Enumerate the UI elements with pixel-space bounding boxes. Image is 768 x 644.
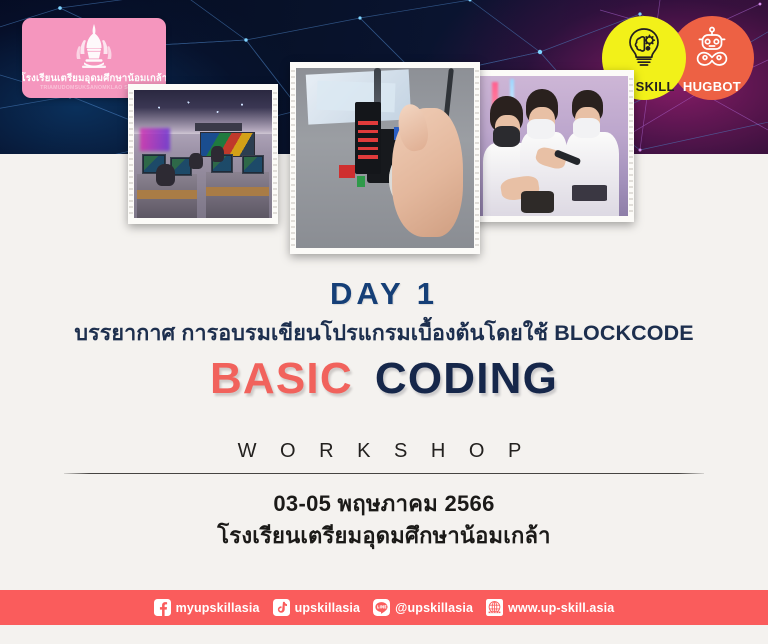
brand-label-hugbot: HUGBOT bbox=[683, 80, 741, 93]
event-date: 03-05 พฤษภาคม 2566 bbox=[0, 486, 768, 521]
thai-subtitle: บรรยากาศ การอบรมเขียนโปรแกรมเบื้องต้นโดย… bbox=[0, 316, 768, 350]
workshop-label: W O R K S H O P bbox=[0, 440, 768, 463]
school-name-thai: โรงเรียนเตรียมอุดมศึกษาน้อมเกล้า bbox=[22, 74, 166, 84]
social-link-website[interactable]: www.up-skill.asia bbox=[486, 599, 614, 616]
social-link-facebook[interactable]: myupskillasia bbox=[154, 599, 260, 616]
social-handle-line: @upskillasia bbox=[395, 601, 473, 615]
thai-royal-crown-emblem-icon bbox=[72, 23, 116, 75]
photo-frame-computer-lab bbox=[128, 84, 278, 224]
robot-head-icon bbox=[689, 26, 735, 70]
social-link-line[interactable]: @upskillasia bbox=[373, 599, 473, 616]
social-handle-tiktok: upskillasia bbox=[295, 601, 361, 615]
photo-computer-lab bbox=[134, 90, 272, 218]
line-icon bbox=[373, 599, 390, 616]
facebook-icon bbox=[154, 599, 171, 616]
poster-root: โรงเรียนเตรียมอุดมศึกษาน้อมเกล้า TRIAMUD… bbox=[0, 0, 768, 644]
social-handle-website: www.up-skill.asia bbox=[508, 601, 614, 615]
social-links-list: myupskillasia upskillasia bbox=[154, 599, 615, 616]
tiktok-icon bbox=[273, 599, 290, 616]
social-link-tiktok[interactable]: upskillasia bbox=[273, 599, 361, 616]
day-title: DAY 1 bbox=[0, 276, 768, 312]
main-title-basic: BASIC bbox=[210, 354, 353, 403]
photo-robot-car bbox=[296, 68, 474, 248]
footer-bar: myupskillasia upskillasia bbox=[0, 590, 768, 625]
globe-icon bbox=[486, 599, 503, 616]
divider-line bbox=[64, 473, 704, 474]
photo-frame-robot-car bbox=[290, 62, 480, 254]
photo-frame-students bbox=[474, 70, 634, 222]
main-title-coding: CODING bbox=[375, 354, 558, 403]
photo-students bbox=[480, 76, 628, 216]
event-place: โรงเรียนเตรียมอุดมศึกษาน้อมเกล้า bbox=[0, 518, 768, 553]
lightbulb-brain-gear-icon bbox=[621, 26, 667, 70]
main-title: BASICCODING bbox=[0, 356, 768, 402]
social-handle-facebook: myupskillasia bbox=[176, 601, 260, 615]
